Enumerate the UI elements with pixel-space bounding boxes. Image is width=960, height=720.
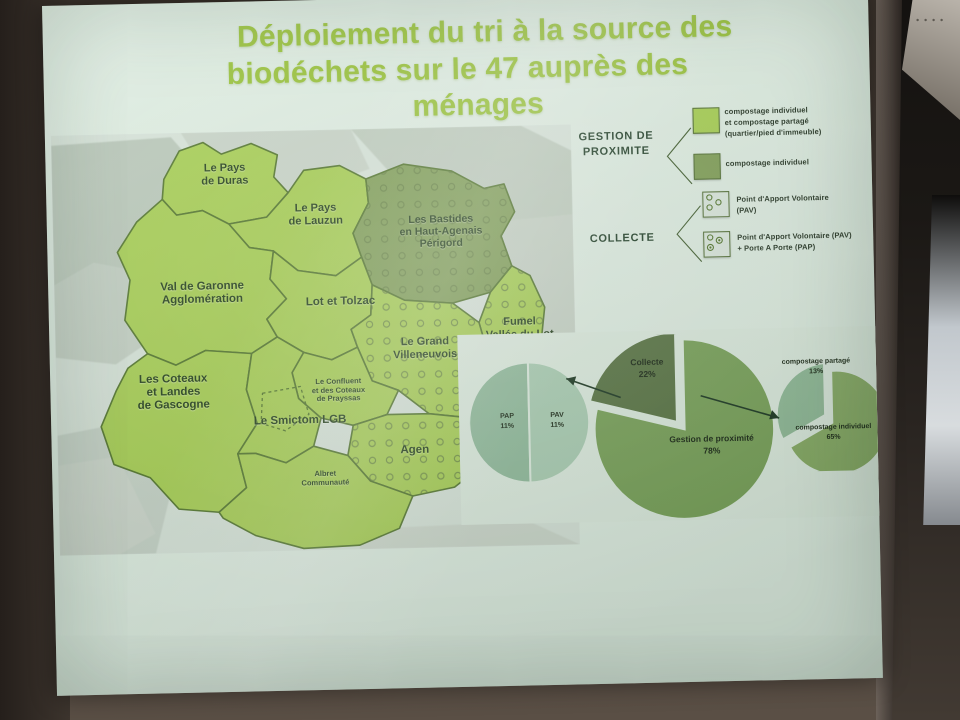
legend-text-compostage-individuel: compostage individuel bbox=[726, 156, 858, 170]
map-legend: GESTION DE PROXIMITE compostage individu… bbox=[574, 78, 868, 274]
legend-swatch-pav[interactable] bbox=[702, 191, 730, 218]
slide: Déploiement du tri à la source des biodé… bbox=[42, 0, 883, 696]
legend-text-compostage-individuel-et-partage: compostage individuel et compostage part… bbox=[724, 104, 857, 139]
arrow-gestion-to-right-pie bbox=[697, 390, 788, 426]
legend-swatch-compostage-individuel[interactable] bbox=[693, 153, 721, 180]
arrow-collecte-to-left-pie bbox=[554, 371, 625, 403]
legend-brace-gestion bbox=[659, 126, 694, 189]
pie-label-pap: PAP 11% bbox=[479, 411, 535, 432]
legend-brace-collecte bbox=[668, 204, 703, 267]
pie-label-compostage-individuel: compostage individuel 65% bbox=[781, 422, 883, 444]
pav-dots-icon bbox=[703, 192, 725, 213]
pie-label-gestion-de-proximite: Gestion de proximité 78% bbox=[655, 432, 767, 458]
projection-screen: Déploiement du tri à la source des biodé… bbox=[42, 0, 883, 696]
pie-charts-panel: PAP 11% PAV 11% Collecte 22% Gestion de … bbox=[457, 326, 881, 525]
pie-label-pav: PAV 11% bbox=[529, 410, 585, 431]
ceiling-vent-icon bbox=[916, 16, 946, 28]
screenshot-root: Déploiement du tri à la source des biodé… bbox=[0, 0, 960, 720]
legend-group-title-collecte: COLLECTE bbox=[577, 230, 667, 247]
pie-label-compostage-partage: compostage partagé 13% bbox=[764, 356, 868, 378]
legend-text-pav-pap: Point d'Apport Volontaire (PAV) + Porte … bbox=[737, 230, 877, 255]
legend-group-title-gestion-de-proximite: GESTION DE PROXIMITE bbox=[575, 129, 658, 160]
pav-pap-dots-icon bbox=[704, 232, 726, 253]
legend-text-pav: Point d'Apport Volontaire (PAV) bbox=[736, 192, 871, 217]
legend-swatch-pav-pap[interactable] bbox=[703, 231, 731, 258]
legend-swatch-compostage-individuel-et-partage[interactable] bbox=[692, 107, 720, 134]
